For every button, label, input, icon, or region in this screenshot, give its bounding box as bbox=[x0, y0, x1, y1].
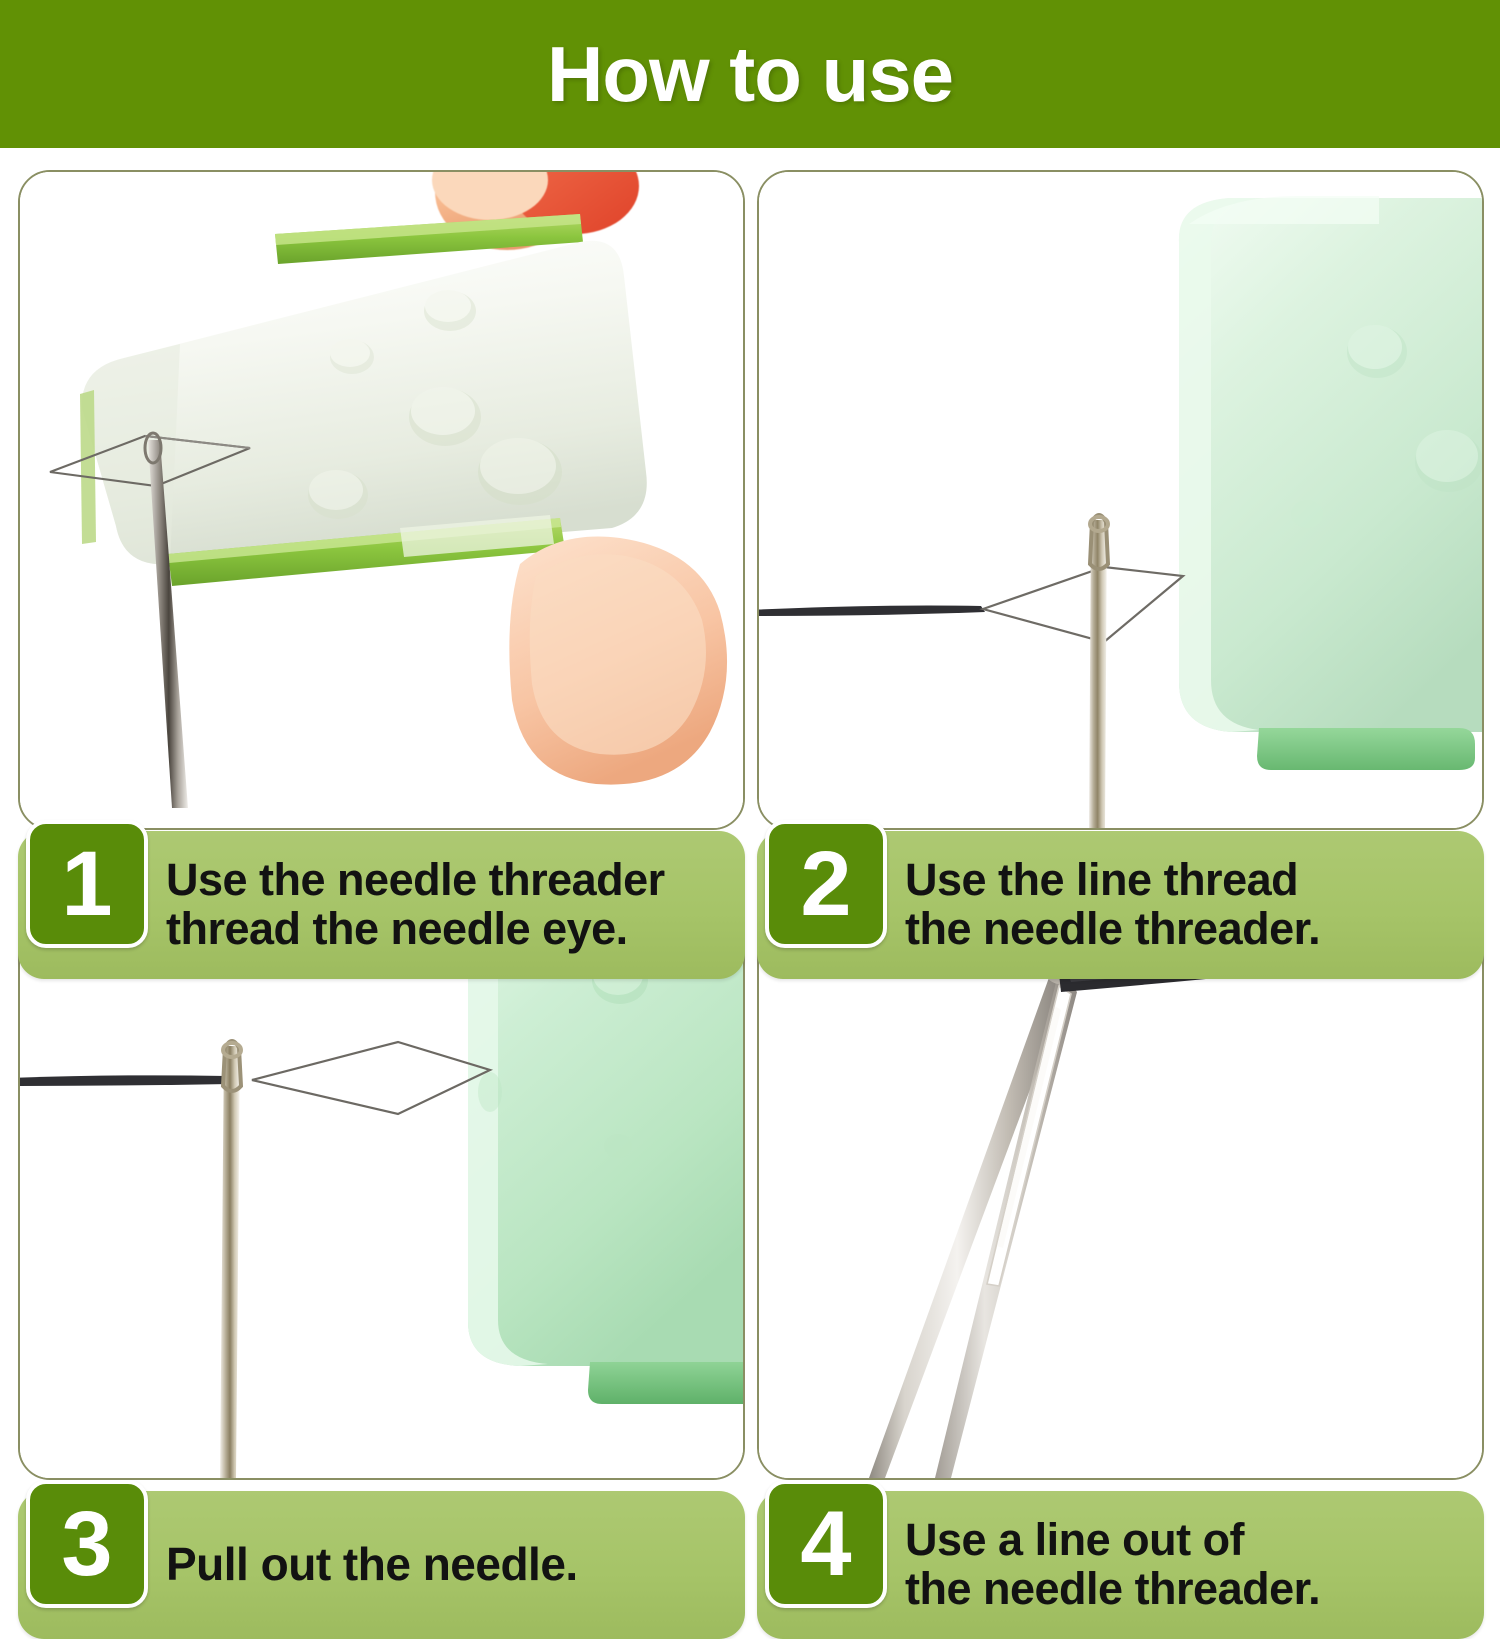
step-number-badge-2: 2 bbox=[765, 820, 887, 948]
step-1-illustration: edle bbox=[20, 172, 743, 828]
step-caption-1: 1 Use the needle threader thread the nee… bbox=[18, 831, 745, 979]
step-panel-1: edle bbox=[18, 170, 745, 830]
step-number-badge-4: 4 bbox=[765, 1480, 887, 1608]
step-caption-text-3: Pull out the needle. bbox=[166, 1540, 578, 1590]
page-header: How to use bbox=[0, 0, 1500, 148]
step-2-photo bbox=[759, 172, 1482, 828]
step-number-badge-1: 1 bbox=[26, 820, 148, 948]
steps-grid: edle bbox=[0, 148, 1500, 1500]
step-caption-3: 3 Pull out the needle. bbox=[18, 1491, 745, 1639]
step-caption-text-1: Use the needle threader thread the needl… bbox=[166, 856, 665, 953]
step-caption-2: 2 Use the line thread the needle threade… bbox=[757, 831, 1484, 979]
step-caption-4: 4 Use a line out of the needle threader. bbox=[757, 1491, 1484, 1639]
step-1-photo: edle bbox=[20, 172, 743, 828]
step-2-illustration bbox=[759, 172, 1482, 828]
step-number-badge-3: 3 bbox=[26, 1480, 148, 1608]
step-panel-2 bbox=[757, 170, 1484, 830]
step-caption-text-2: Use the line thread the needle threader. bbox=[905, 856, 1320, 953]
page-title: How to use bbox=[547, 29, 953, 120]
step-caption-text-4: Use a line out of the needle threader. bbox=[905, 1516, 1320, 1613]
